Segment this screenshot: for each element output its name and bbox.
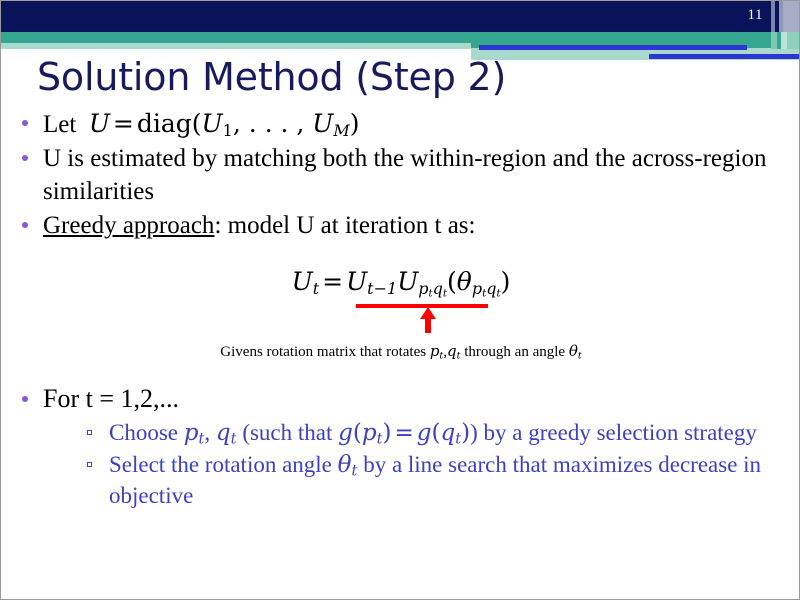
- header-light-teal-band-left: [1, 43, 471, 49]
- up-arrow-icon: [419, 307, 437, 333]
- slide-canvas: 11 Solution Method (Step 2) Let U=diag(U…: [0, 0, 800, 600]
- bullet-dot-icon: [22, 396, 28, 402]
- sub-bullet-choose: Choose pt, qt (such that g(pt)=g(qt)) by…: [73, 418, 771, 449]
- sub-bullet-square-icon: [87, 462, 92, 467]
- bullet-let-u: Let U=diag(U1, . . . , UM): [1, 107, 800, 141]
- equation-update: Ut=Ut−1Uptqt(θptqt): [292, 267, 511, 300]
- bullet-u-estimated: U is estimated by matching both the with…: [1, 142, 800, 208]
- bullet-u-estimated-text: U is estimated by matching both the with…: [43, 145, 766, 205]
- bullet-let-u-text: Let U=diag(U1, . . . , UM): [43, 111, 360, 138]
- greedy-underline: Greedy approach: [43, 212, 214, 239]
- equation-block: Ut=Ut−1Uptqt(θptqt): [1, 267, 800, 300]
- header-blue-bar-lower: [649, 54, 800, 59]
- bullet-greedy-approach: Greedy approach: model U at iteration t …: [1, 209, 800, 242]
- bullet-dot-icon: [22, 120, 28, 126]
- sub-bullet-choose-text: Choose pt, qt (such that g(pt)=g(qt)) by…: [109, 420, 757, 445]
- header-stripe-4: [783, 1, 800, 32]
- bullet-list-for-loop: For t = 1,2,... Choose pt, qt (such that…: [1, 382, 771, 511]
- bullet-list-level-1: Let U=diag(U1, . . . , UM) U is estimate…: [1, 107, 800, 242]
- page-title: Solution Method (Step 2): [37, 55, 506, 99]
- lower-content: For t = 1,2,... Choose pt, qt (such that…: [1, 382, 771, 512]
- bullet-greedy-text: Greedy approach: model U at iteration t …: [43, 212, 476, 239]
- givens-caption: Givens rotation matrix that rotates pt,q…: [1, 342, 800, 361]
- page-number: 11: [748, 7, 763, 24]
- sub-bullet-select: Select the rotation angle θt by a line s…: [73, 450, 771, 512]
- body-content: Let U=diag(U1, . . . , UM) U is estimate…: [1, 107, 800, 243]
- bullet-dot-icon: [22, 222, 28, 228]
- header-navy-band: [1, 1, 800, 32]
- header-blue-bar-upper: [479, 45, 747, 50]
- bullet-for-t: For t = 1,2,... Choose pt, qt (such that…: [1, 382, 771, 511]
- sub-bullet-square-icon: [87, 430, 92, 435]
- sub-bullet-select-text: Select the rotation angle θt by a line s…: [109, 452, 761, 508]
- greedy-rest: : model U at iteration t as:: [214, 212, 475, 239]
- header-stripe-teal-4: [787, 32, 800, 49]
- bullet-list-level-2: Choose pt, qt (such that g(pt)=g(qt)) by…: [43, 418, 771, 511]
- bullet-dot-icon: [22, 155, 28, 161]
- bullet-for-t-text: For t = 1,2,...: [43, 384, 179, 413]
